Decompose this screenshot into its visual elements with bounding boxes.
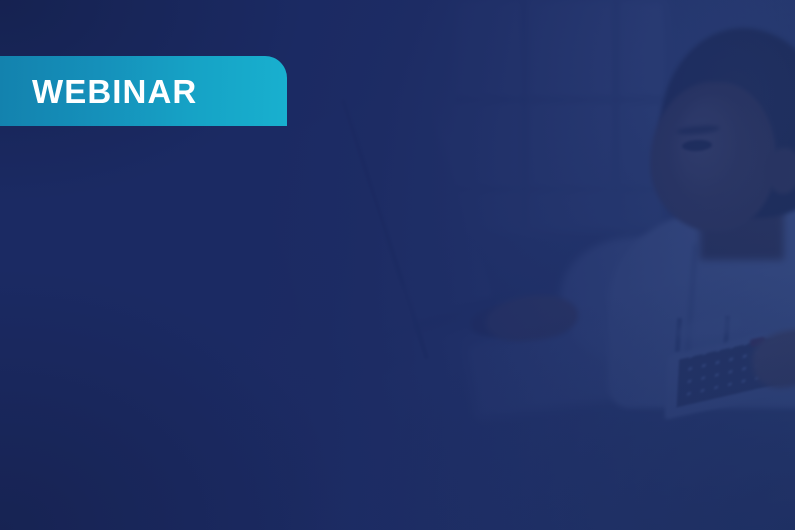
webinar-badge-label: WEBINAR [0,75,197,108]
webinar-badge: WEBINAR [0,56,287,126]
webinar-banner: WEBINAR [0,0,795,530]
